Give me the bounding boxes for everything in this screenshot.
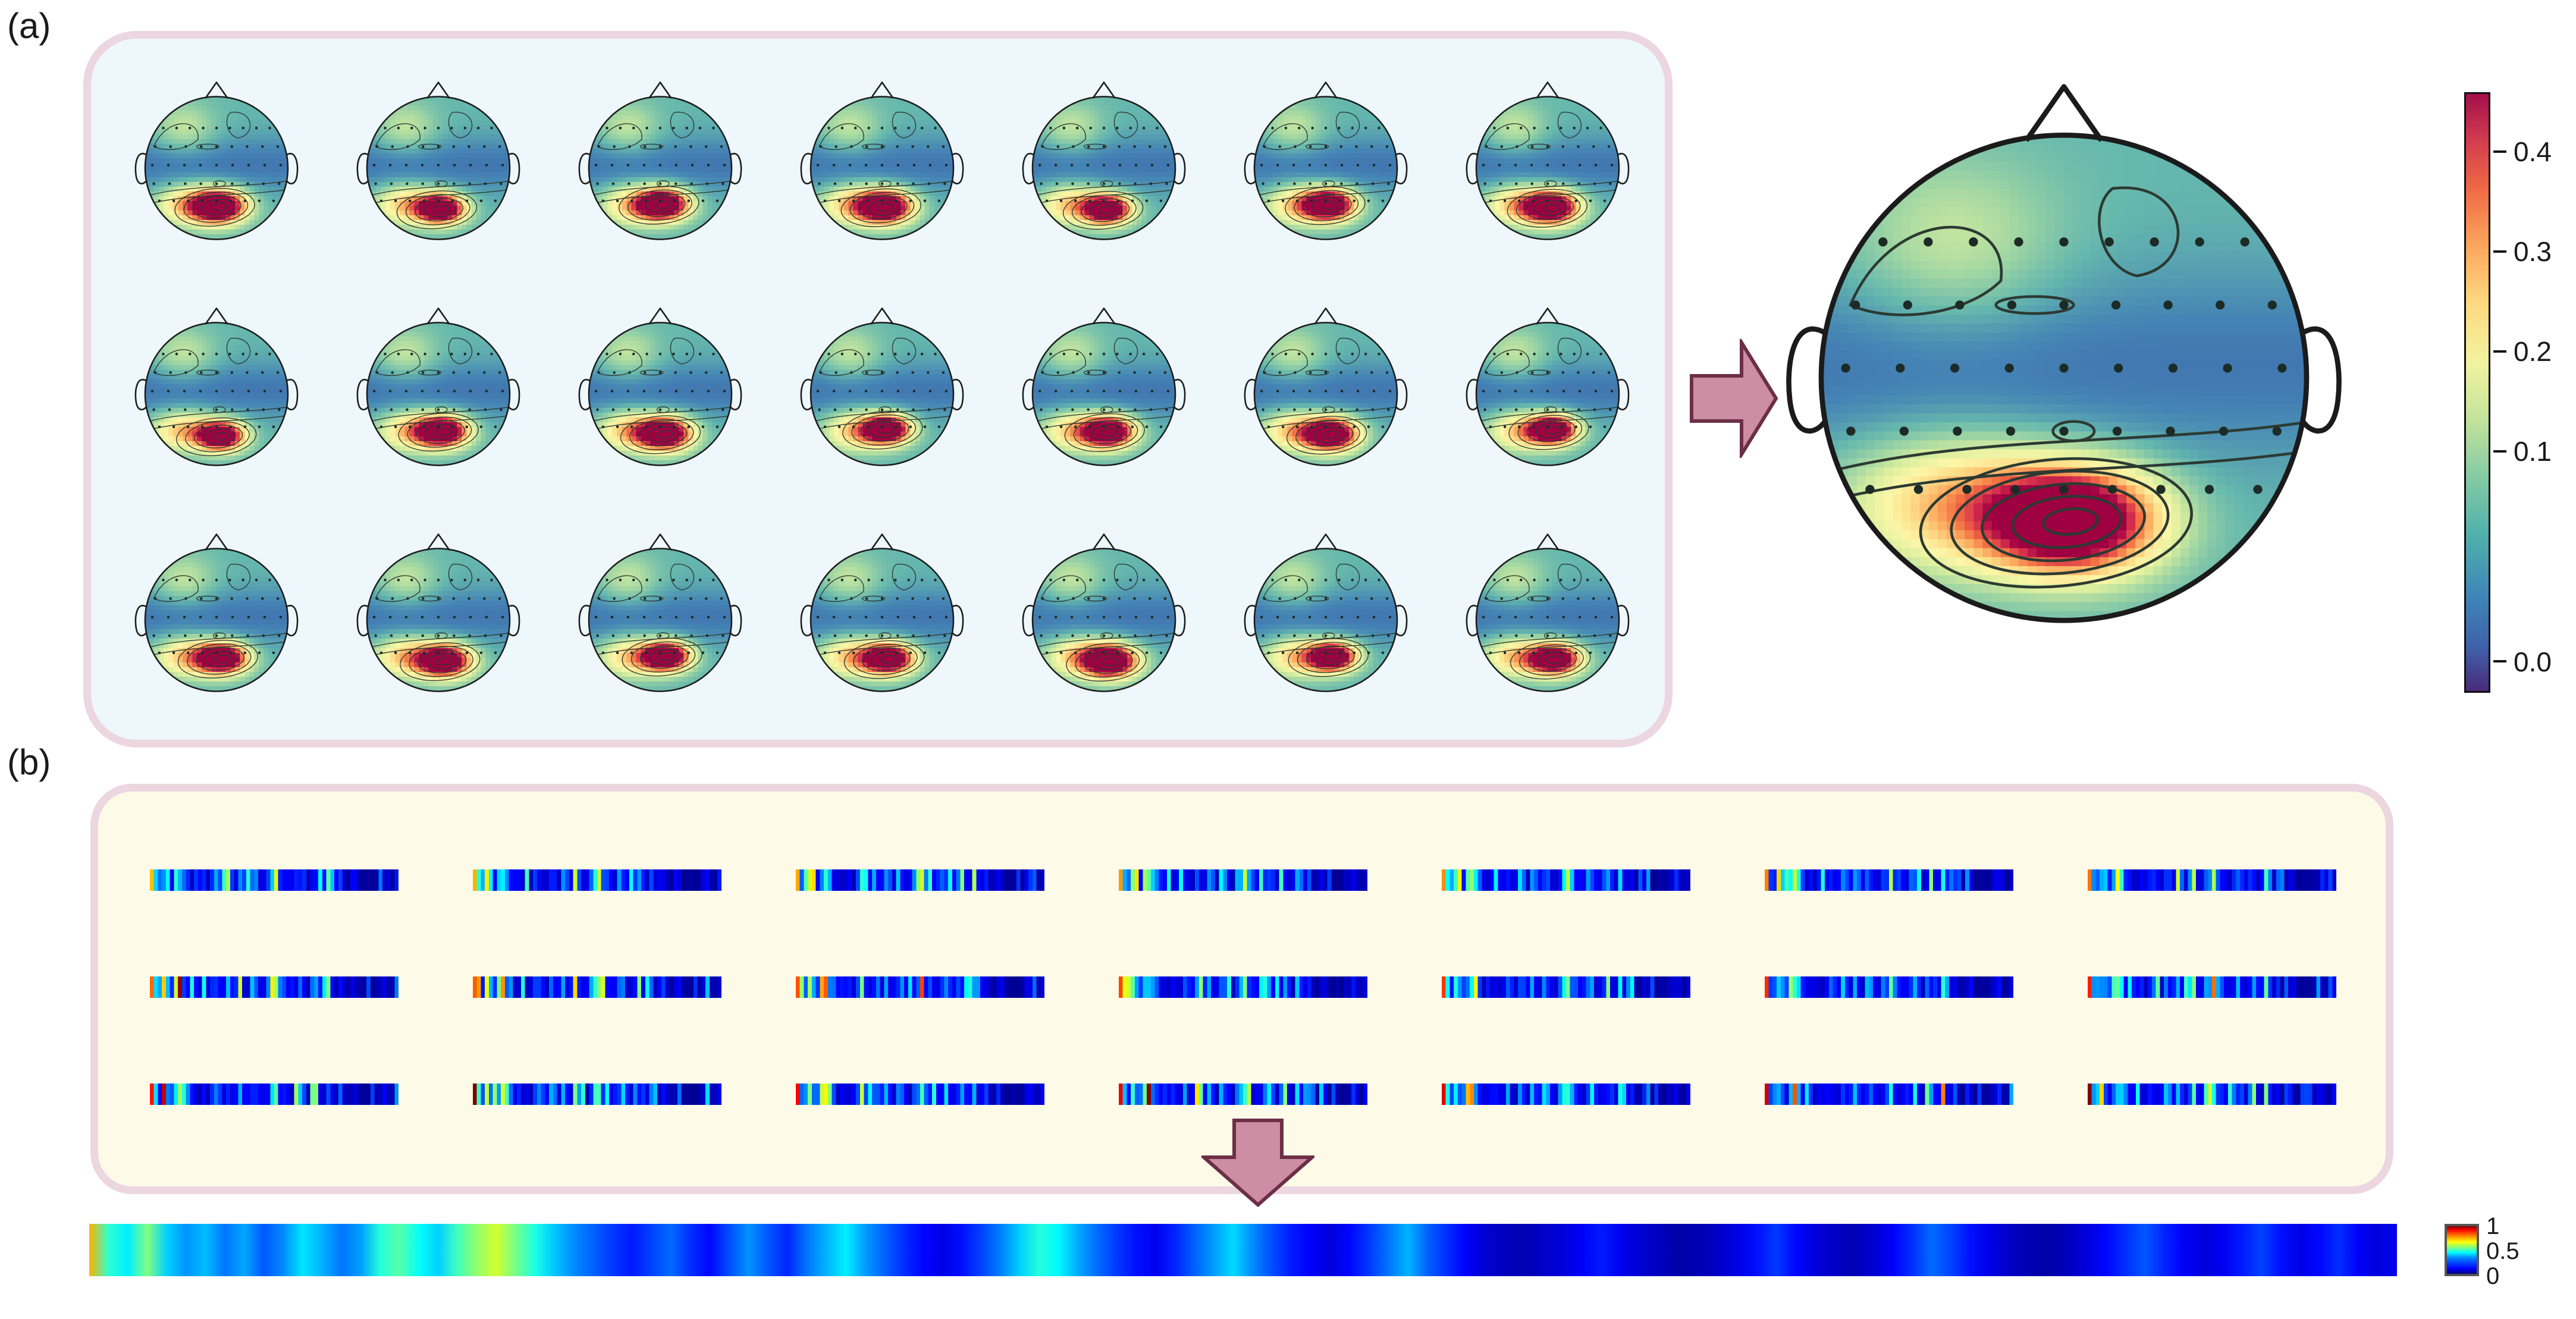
eeg-topographic-map	[1436, 52, 1658, 278]
eeg-topographic-map	[771, 52, 993, 278]
feature-weight-strip	[1404, 1041, 1727, 1148]
eeg-topographic-map	[1436, 504, 1658, 730]
feature-weight-strip	[1082, 934, 1405, 1041]
feature-weight-strip	[759, 1041, 1082, 1148]
colorbar-tick	[2493, 660, 2506, 662]
eeg-topographic-map	[993, 278, 1215, 504]
feature-weight-strip	[759, 827, 1082, 934]
eeg-topographic-map	[106, 52, 328, 278]
colorbar-tick	[2493, 350, 2506, 353]
colorbar-tick-label: 0.3	[2514, 235, 2552, 268]
colorbar-tick-label: 0.1	[2514, 435, 2552, 467]
eeg-topographic-map	[550, 52, 771, 278]
feature-weight-strip	[1727, 1041, 2050, 1148]
arrow-down-icon	[1201, 1118, 1314, 1207]
eeg-topographic-map	[993, 504, 1215, 730]
eeg-topographic-map	[550, 504, 771, 730]
strip-colorbar-tick-label: 0	[2486, 1264, 2499, 1288]
feature-weight-strip	[1727, 934, 2050, 1041]
strip-colorbar-tick-label: 0.5	[2486, 1239, 2519, 1263]
strip-colorbar	[2445, 1224, 2479, 1276]
feature-weight-strip	[1082, 827, 1405, 934]
eeg-topographic-map	[1215, 504, 1436, 730]
topomap-grid	[106, 52, 1658, 730]
feature-weight-strip	[436, 1041, 759, 1148]
feature-weight-strip	[436, 827, 759, 934]
feature-weight-strip	[2050, 1041, 2373, 1148]
eeg-topographic-map	[328, 52, 550, 278]
feature-weight-strip	[2050, 934, 2373, 1041]
eeg-topographic-map	[771, 504, 993, 730]
eeg-topographic-map	[771, 278, 993, 504]
eeg-topographic-map	[993, 52, 1215, 278]
aggregated-heatmap-strip	[89, 1224, 2397, 1276]
eeg-topographic-map	[106, 278, 328, 504]
panel-b-label: (b)	[7, 745, 51, 780]
topomap-colorbar	[2464, 92, 2490, 693]
feature-weight-strip	[113, 827, 436, 934]
feature-weight-strip	[1727, 827, 2050, 934]
panel-a-label: (a)	[7, 8, 51, 44]
feature-weight-strip	[1404, 934, 1727, 1041]
feature-weight-strip	[2050, 827, 2373, 934]
colorbar-tick-label: 0.4	[2514, 136, 2552, 168]
colorbar-tick	[2493, 250, 2506, 253]
feature-weight-strip	[1404, 827, 1727, 934]
colorbar-tick-label: 0.0	[2514, 646, 2552, 678]
feature-weight-strip	[113, 934, 436, 1041]
feature-weight-strip	[113, 1041, 436, 1148]
strip-grid	[113, 827, 2373, 1148]
eeg-topographic-map	[1436, 278, 1658, 504]
colorbar-tick	[2493, 150, 2506, 153]
eeg-topographic-map	[1215, 52, 1436, 278]
eeg-topographic-map	[328, 278, 550, 504]
averaged-eeg-topographic-map	[1761, 65, 2367, 672]
eeg-topographic-map	[106, 504, 328, 730]
eeg-topographic-map	[550, 278, 771, 504]
eeg-topographic-map	[1215, 278, 1436, 504]
feature-weight-strip	[759, 934, 1082, 1041]
feature-weight-strip	[436, 934, 759, 1041]
colorbar-tick-label: 0.2	[2514, 335, 2552, 368]
strip-colorbar-tick-label: 1	[2486, 1214, 2499, 1238]
colorbar-tick	[2493, 450, 2506, 453]
eeg-topographic-map	[328, 504, 550, 730]
